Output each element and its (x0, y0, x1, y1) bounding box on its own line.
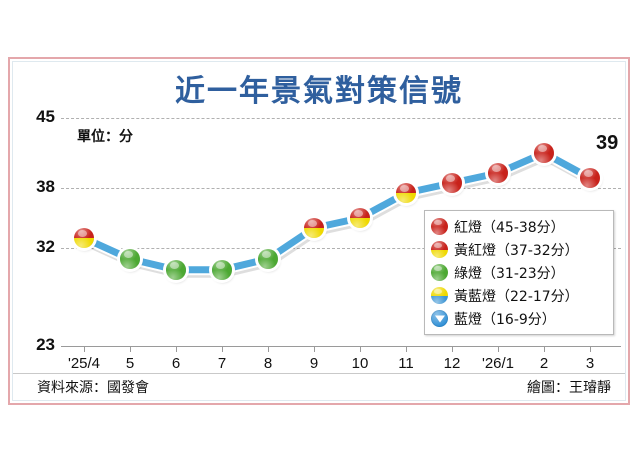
source-text: 資料來源：國發會 (37, 377, 149, 397)
data-point-黃紅燈 (74, 228, 94, 248)
artist-text: 繪圖：王璿靜 (527, 377, 611, 397)
legend-item: 綠燈（31-23分） (431, 261, 605, 284)
legend-item-label: 黃藍燈（22-17分） (454, 286, 579, 306)
legend-item-label: 綠燈（31-23分） (454, 263, 565, 283)
legend-item: 紅燈（45-38分） (431, 215, 605, 238)
blue-light-icon (431, 310, 448, 327)
data-point-綠燈 (166, 260, 186, 280)
data-point-紅燈 (580, 168, 600, 188)
legend-item: 藍燈（16-9分） (431, 307, 605, 330)
green-light-icon (431, 264, 448, 281)
yellow-red-light-icon (431, 241, 448, 258)
data-point-綠燈 (258, 249, 278, 269)
chart-frame: 近一年景氣對策信號 單位：分 23323845'25/456789101112'… (8, 57, 630, 405)
data-point-黃紅燈 (396, 183, 416, 203)
legend-item: 黃藍燈（22-17分） (431, 284, 605, 307)
red-light-icon (431, 218, 448, 235)
data-point-紅燈 (488, 163, 508, 183)
legend-item-label: 紅燈（45-38分） (454, 217, 565, 237)
data-point-紅燈 (534, 143, 554, 163)
legend-item-label: 黃紅燈（37-32分） (454, 240, 579, 260)
last-value-label: 39 (596, 132, 618, 155)
data-point-黃紅燈 (304, 218, 324, 238)
legend-item-label: 藍燈（16-9分） (454, 309, 556, 329)
legend-item: 黃紅燈（37-32分） (431, 238, 605, 261)
data-point-黃紅燈 (350, 208, 370, 228)
chart-footer: 資料來源：國發會 繪圖：王璿靜 (13, 373, 625, 398)
chart-legend: 紅燈（45-38分）黃紅燈（37-32分）綠燈（31-23分）黃藍燈（22-17… (424, 210, 614, 335)
data-point-紅燈 (442, 173, 462, 193)
yellow-blue-light-icon (431, 287, 448, 304)
data-point-綠燈 (120, 249, 140, 269)
data-point-綠燈 (212, 260, 232, 280)
chart-inner: 近一年景氣對策信號 單位：分 23323845'25/456789101112'… (12, 61, 626, 401)
